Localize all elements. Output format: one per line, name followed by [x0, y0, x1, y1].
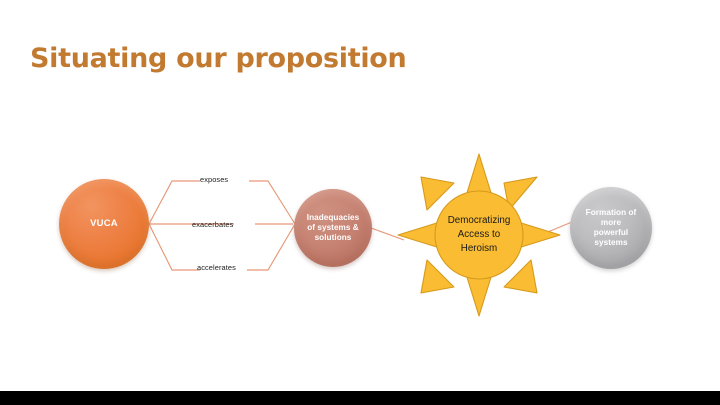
connector-accelerates	[149, 224, 200, 270]
node-inadequacies-label: Inadequacies of systems & solutions	[303, 213, 363, 243]
node-democratizing-access-to-heroism[interactable]: Democratizing Access to Heroism	[396, 152, 562, 318]
concept-diagram: VUCA exposes exacerbates accelerates Ina…	[0, 0, 720, 405]
connector-label-exposes: exposes	[200, 175, 228, 184]
connector-accelerates-tail	[247, 224, 295, 270]
node-vuca[interactable]: VUCA	[59, 179, 149, 269]
node-formation[interactable]: Formation of more powerful systems	[570, 187, 652, 269]
node-inadequacies[interactable]: Inadequacies of systems & solutions	[294, 189, 372, 267]
connector-label-accelerates: accelerates	[197, 263, 236, 272]
node-sun-label: Democratizing Access to Heroism	[396, 152, 562, 318]
slide-canvas: Situating our proposition VUCA	[0, 0, 720, 405]
bottom-band	[0, 391, 720, 405]
node-formation-label: Formation of more powerful systems	[582, 208, 641, 248]
connector-exposes-tail	[249, 181, 295, 224]
connector-label-exacerbates: exacerbates	[192, 220, 233, 229]
connector-exposes	[149, 181, 200, 224]
node-vuca-label: VUCA	[86, 218, 122, 230]
